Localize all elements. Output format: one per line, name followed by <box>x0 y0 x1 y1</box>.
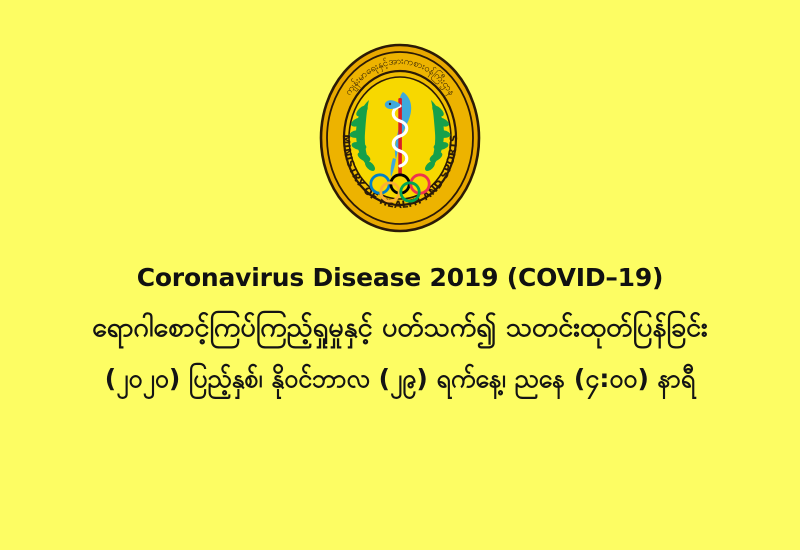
page-title-english: Coronavirus Disease 2019 (COVID–19) <box>0 264 800 293</box>
ministry-seal-graphic: ကျန်းမာရေးနှင့်အားကစားဝန်ကြီးဌာန MINISTR… <box>317 26 483 238</box>
subtitle-burmese: ရောဂါစောင့်ကြပ်ကြည့်ရှုမှုနှင့် ပတ်သက်၍ … <box>0 310 800 345</box>
covid-press-release-poster: ကျန်းမာရေးနှင့်အားကစားဝန်ကြီးဌာန MINISTR… <box>0 0 800 550</box>
poster-text-block: Coronavirus Disease 2019 (COVID–19) ရောဂ… <box>0 264 800 395</box>
ministry-seal: ကျန်းမာရေးနှင့်အားကစားဝန်ကြီးဌာန MINISTR… <box>317 26 483 238</box>
date-time-burmese: (၂၀၂၀) ပြည့်နှစ်၊ နိုဝင်ဘာလ (၂၉) ရက်နေ့၊… <box>0 363 800 396</box>
